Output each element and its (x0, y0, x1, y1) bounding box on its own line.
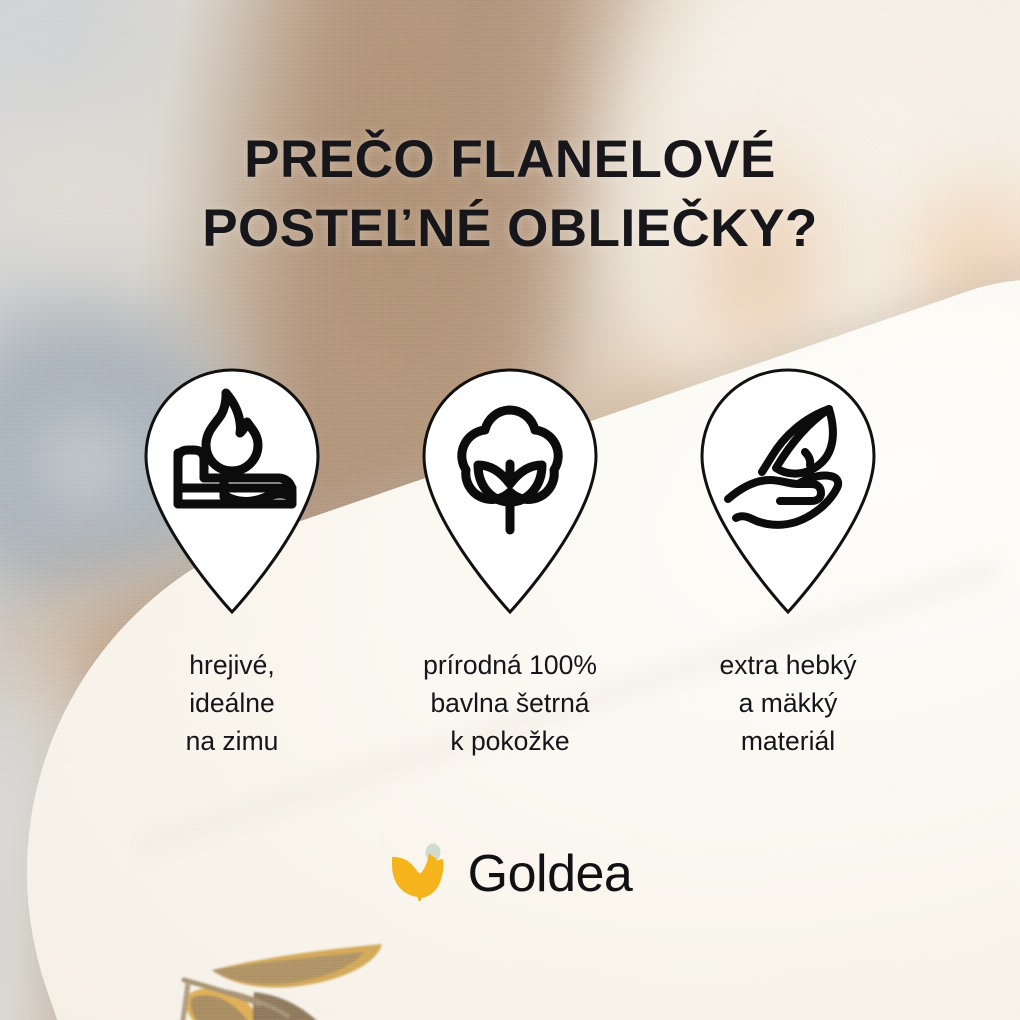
caption-line-3: na zimu (128, 722, 336, 760)
caption-line-2: a mäkký (684, 684, 892, 722)
headline-line-2: POSTEĽNÉ OBLIEČKY? (0, 195, 1020, 264)
page-title: PREČO FLANELOVÉ POSTEĽNÉ OBLIEČKY? (0, 126, 1020, 264)
caption-line-3: materiál (684, 722, 892, 760)
feature-caption-soft: extra hebký a mäkký materiál (684, 646, 892, 760)
brand-logo: Goldea (0, 843, 1020, 905)
caption-line-1: hrejivé, (128, 646, 336, 684)
caption-line-2: bavlna šetrná (406, 684, 614, 722)
feature-item-soft: extra hebký a mäkký materiál (684, 352, 892, 760)
feature-pin-warm (128, 352, 336, 614)
feature-caption-cotton: prírodná 100% bavlna šetrná k pokožke (406, 646, 614, 760)
feature-pin-cotton (406, 352, 614, 614)
feature-item-warm: hrejivé, ideálne na zimu (128, 352, 336, 760)
brand-name: Goldea (468, 848, 633, 900)
promo-graphic: PREČO FLANELOVÉ POSTEĽNÉ OBLIEČKY? (0, 0, 1020, 1020)
feature-item-cotton: prírodná 100% bavlna šetrná k pokožke (406, 352, 614, 760)
goldea-tulip-icon (388, 843, 452, 905)
feature-pin-soft (684, 352, 892, 614)
feature-list: hrejivé, ideálne na zimu prír (0, 352, 1020, 760)
feature-caption-warm: hrejivé, ideálne na zimu (128, 646, 336, 760)
caption-line-2: ideálne (128, 684, 336, 722)
caption-line-1: prírodná 100% (406, 646, 614, 684)
caption-line-3: k pokožke (406, 722, 614, 760)
headline-line-1: PREČO FLANELOVÉ (0, 126, 1020, 195)
pin-shape (702, 370, 874, 612)
caption-line-1: extra hebký (684, 646, 892, 684)
